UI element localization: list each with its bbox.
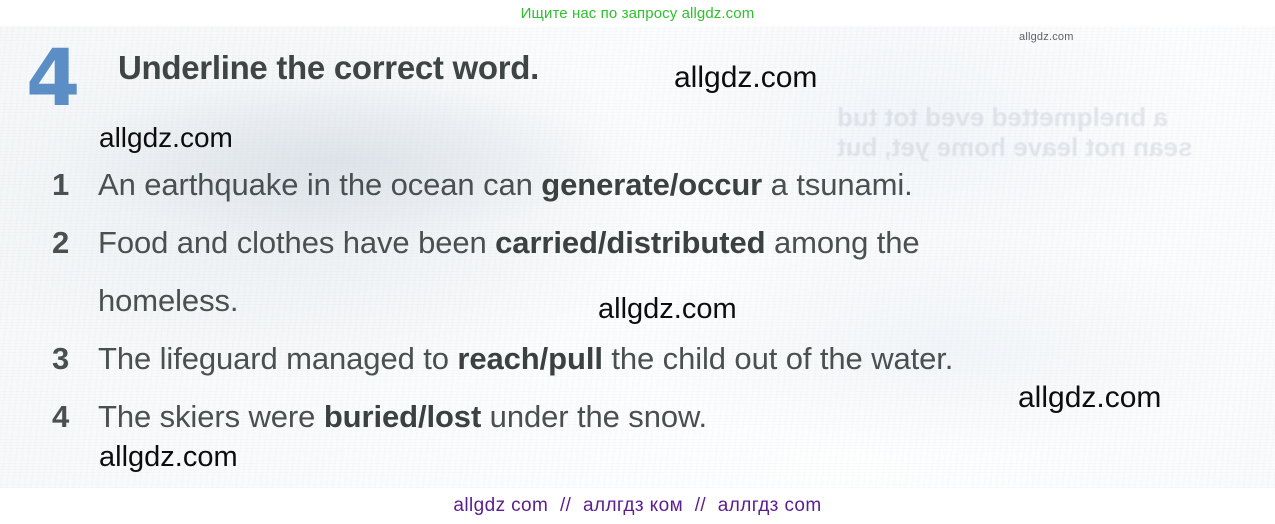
sentence-before: An earthquake in the ocean can — [98, 167, 541, 202]
exercise-item-number: 4 — [52, 388, 98, 446]
exercise-item-number: 1 — [52, 156, 98, 214]
watermark-allgdz-1: allgdz.com — [674, 61, 817, 95]
footer-text: allgdz com // аллгдз ком // аллгдз com — [453, 495, 821, 517]
page-bleed-through-text: a bnelqmetted eved tot tud sean not leav… — [837, 102, 1267, 162]
footer-part-1: allgdz com — [453, 495, 548, 516]
sentence-choice-pair[interactable]: generate/occur — [541, 167, 762, 202]
exercise-heading: Underline the correct word. — [118, 48, 539, 88]
watermark-allgdz-3: allgdz.com — [598, 293, 737, 326]
scanned-textbook-page: a bnelqmetted eved tot tud sean not leav… — [0, 26, 1275, 488]
sentence-before: Food and clothes have been — [98, 225, 495, 260]
sentence-before: The skiers were — [98, 399, 324, 434]
sentence-after: under the snow. — [481, 399, 707, 434]
exercise-item-number: 2 — [52, 214, 98, 272]
exercise-item-1: 1 An earthquake in the ocean can generat… — [0, 156, 1275, 214]
footer-part-3: аллгдз com — [718, 495, 822, 516]
promo-banner: Ищите нас по запросу allgdz.com — [0, 0, 1275, 26]
watermark-allgdz-2: allgdz.com — [99, 122, 233, 154]
sentence-choice-pair[interactable]: buried/lost — [324, 399, 481, 434]
exercise-item-number: 3 — [52, 330, 98, 388]
exercise-item-3: 3 The lifeguard managed to reach/pull th… — [0, 330, 1275, 388]
bleed-through-line-1: a bnelqmetted eved tot tud — [837, 102, 1267, 132]
footer-strip: allgdz com // аллгдз ком // аллгдз com — [0, 488, 1275, 524]
promo-banner-text: Ищите нас по запросу allgdz.com — [521, 5, 755, 22]
exercise-item-sentence: The lifeguard managed to reach/pull the … — [98, 330, 1275, 388]
sentence-before: The lifeguard managed to — [98, 341, 457, 376]
watermark-corner-small: allgdz.com — [1019, 31, 1074, 43]
watermark-allgdz-4: allgdz.com — [1018, 381, 1161, 415]
sentence-choice-pair[interactable]: reach/pull — [457, 341, 602, 376]
exercise-number: 4 — [26, 40, 80, 118]
sentence-after: the child out of the water. — [603, 341, 953, 376]
sentence-after: a tsunami. — [762, 167, 913, 202]
exercise-item-sentence: An earthquake in the ocean can generate/… — [98, 156, 1275, 214]
footer-separator-1: // — [554, 495, 577, 516]
footer-separator-2: // — [689, 495, 712, 516]
sentence-choice-pair[interactable]: carried/distributed — [495, 225, 765, 260]
watermark-allgdz-5: allgdz.com — [99, 441, 238, 474]
footer-part-2: аллгдз ком — [583, 495, 683, 516]
